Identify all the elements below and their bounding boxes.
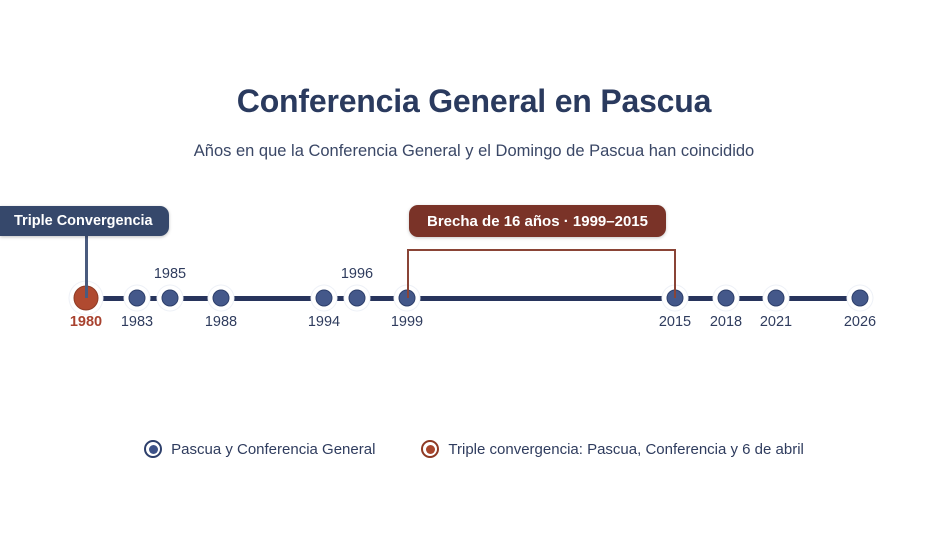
year-label-1994: 1994 <box>308 314 340 331</box>
year-label-2018: 2018 <box>710 314 742 331</box>
timeline-marker-2018[interactable] <box>718 290 735 307</box>
year-label-1985: 1985 <box>154 266 186 283</box>
timeline-marker-1994[interactable] <box>316 290 333 307</box>
chart-legend: Pascua y Conferencia GeneralTriple conve… <box>0 440 948 458</box>
gap-badge-label: Brecha de 16 años · 1999–2015 <box>427 213 648 230</box>
legend-item-2[interactable]: Triple convergencia: Pascua, Conferencia… <box>421 440 803 458</box>
gap-badge: Brecha de 16 años · 1999–2015 <box>409 205 666 237</box>
year-label-2015: 2015 <box>659 314 691 331</box>
timeline-marker-2021[interactable] <box>768 290 785 307</box>
year-label-1999: 1999 <box>391 314 423 331</box>
triple-convergence-badge: Triple Convergencia <box>0 206 169 236</box>
timeline-chart: 1980198319851988199419961999201520182021… <box>0 0 948 542</box>
timeline-marker-1985[interactable] <box>162 290 179 307</box>
timeline-marker-1996[interactable] <box>349 290 366 307</box>
year-label-2026: 2026 <box>844 314 876 331</box>
legend-label: Pascua y Conferencia General <box>171 441 375 458</box>
year-label-2021: 2021 <box>760 314 792 331</box>
timeline-marker-1988[interactable] <box>213 290 230 307</box>
year-label-1980: 1980 <box>70 314 102 331</box>
gap-bracket-left <box>407 249 409 298</box>
triple-convergence-connector <box>85 236 88 298</box>
legend-swatch-rust-icon <box>421 440 439 458</box>
timeline-marker-2026[interactable] <box>852 290 869 307</box>
timeline-marker-1983[interactable] <box>129 290 146 307</box>
timeline-axis <box>86 296 860 301</box>
triple-convergence-badge-label: Triple Convergencia <box>14 213 153 229</box>
legend-item-1[interactable]: Pascua y Conferencia General <box>144 440 375 458</box>
year-label-1996: 1996 <box>341 266 373 283</box>
legend-swatch-navy-icon <box>144 440 162 458</box>
year-label-1983: 1983 <box>121 314 153 331</box>
gap-bracket-right <box>674 249 676 298</box>
legend-label: Triple convergencia: Pascua, Conferencia… <box>448 441 803 458</box>
year-label-1988: 1988 <box>205 314 237 331</box>
gap-bracket-top <box>407 249 676 251</box>
